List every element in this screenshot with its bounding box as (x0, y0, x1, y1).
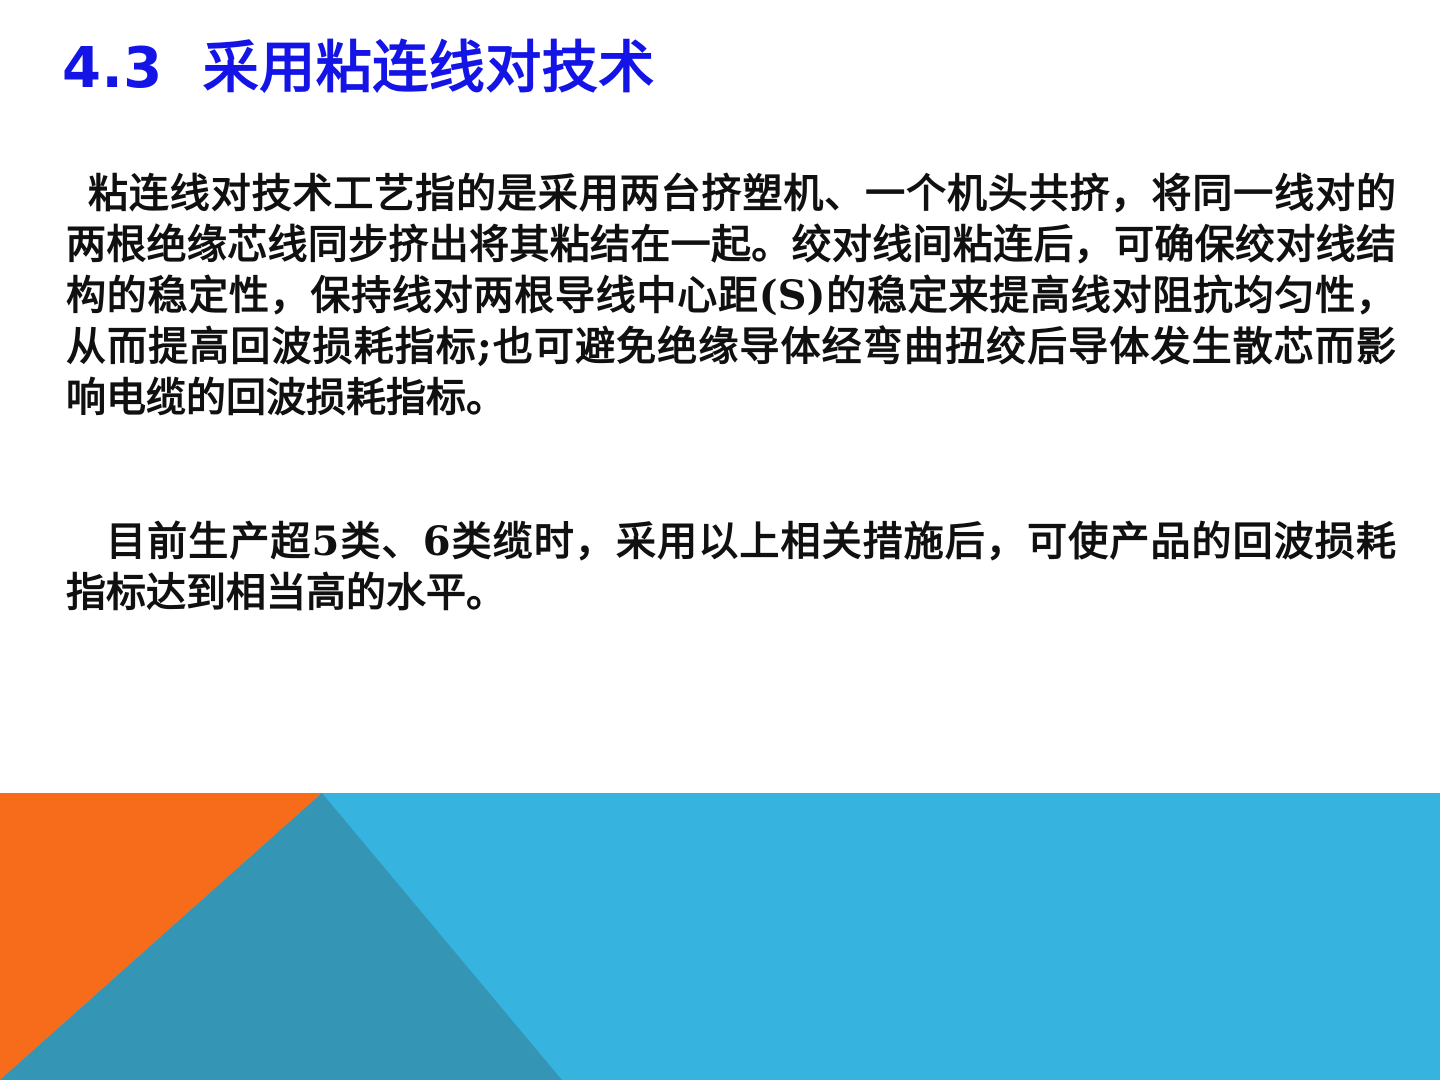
paragraph-spacer (66, 423, 1396, 516)
slide-body: 粘连线对技术工艺指的是采用两台挤塑机、一个机头共挤，将同一线对的两根绝缘芯线同步… (66, 168, 1396, 618)
body-paragraph-1: 粘连线对技术工艺指的是采用两台挤塑机、一个机头共挤，将同一线对的两根绝缘芯线同步… (66, 168, 1396, 423)
footer-decoration (0, 793, 1440, 1080)
page-title: 4.3 采用粘连线对技术 (62, 40, 1362, 99)
body-paragraph-2: 目前生产超5类、6类缆时，采用以上相关措施后，可使产品的回波损耗指标达到相当高的… (66, 516, 1396, 618)
footer-triangles-graphic (0, 793, 1440, 1080)
slide: 4.3 采用粘连线对技术 粘连线对技术工艺指的是采用两台挤塑机、一个机头共挤，将… (0, 0, 1440, 1080)
